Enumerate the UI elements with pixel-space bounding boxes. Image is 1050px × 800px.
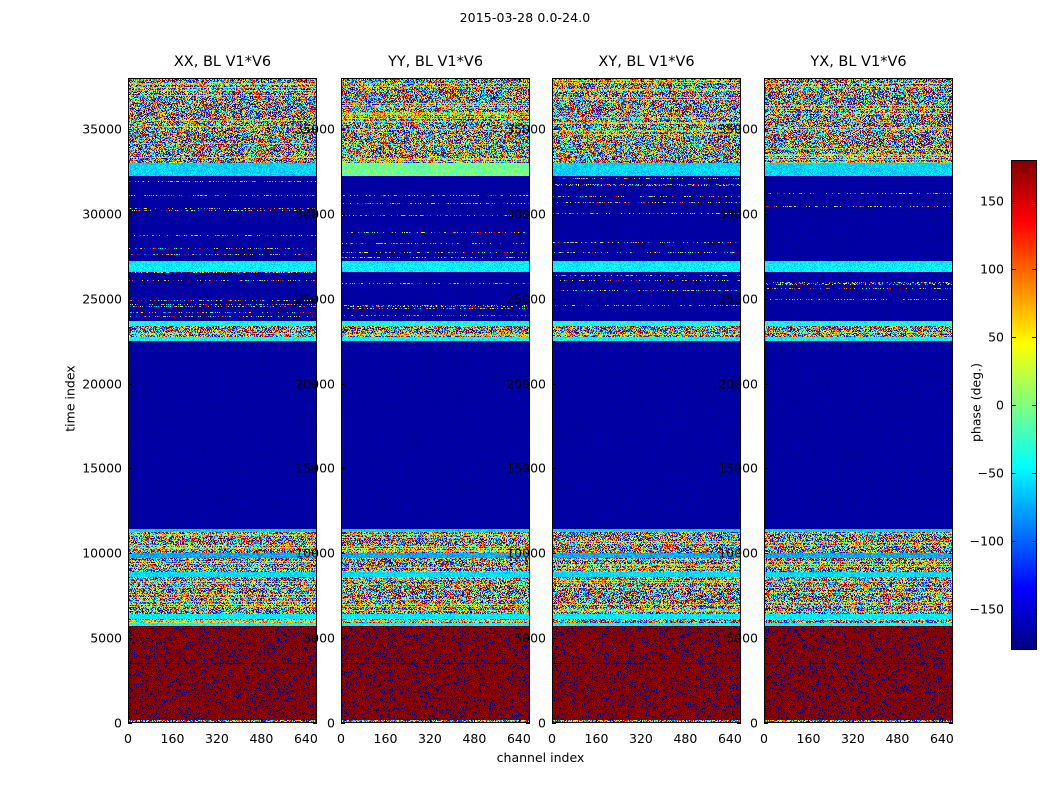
panel-yx[interactable]: YX, BL V1*V6 bbox=[764, 78, 953, 723]
y-tick-label: 0 bbox=[269, 716, 335, 731]
colorbar-tick-mark bbox=[1011, 269, 1016, 270]
y-tick-label: 25000 bbox=[480, 291, 546, 306]
y-tick-mark bbox=[341, 299, 345, 300]
x-tick-mark bbox=[730, 78, 731, 82]
y-tick-label: 35000 bbox=[56, 121, 122, 136]
heatmap-xy bbox=[552, 78, 741, 723]
y-tick-mark bbox=[552, 723, 556, 724]
x-tick-mark bbox=[685, 719, 686, 723]
colorbar-tick-mark bbox=[1011, 201, 1016, 202]
y-tick-mark bbox=[128, 638, 132, 639]
x-tick-mark bbox=[306, 78, 307, 82]
x-tick-mark bbox=[474, 719, 475, 723]
panel-title-yy: YY, BL V1*V6 bbox=[341, 54, 530, 70]
y-tick-mark bbox=[764, 214, 768, 215]
figure-suptitle: 2015-03-28 0.0-24.0 bbox=[0, 10, 1050, 25]
x-tick-mark bbox=[261, 78, 262, 82]
colorbar-tick-mark bbox=[1032, 405, 1037, 406]
panel-title-yx: YX, BL V1*V6 bbox=[764, 54, 953, 70]
y-tick-mark bbox=[341, 214, 345, 215]
y-tick-mark bbox=[552, 638, 556, 639]
y-tick-label: 30000 bbox=[269, 206, 335, 221]
y-tick-mark bbox=[341, 553, 345, 554]
y-tick-mark bbox=[949, 299, 953, 300]
y-tick-mark bbox=[949, 468, 953, 469]
x-tick-label: 640 bbox=[294, 731, 318, 746]
colorbar-tick-mark bbox=[1032, 609, 1037, 610]
colorbar-tick-label: −150 bbox=[949, 602, 1004, 617]
y-tick-mark bbox=[552, 299, 556, 300]
x-tick-label: 480 bbox=[885, 731, 909, 746]
y-tick-label: 15000 bbox=[269, 461, 335, 476]
y-tick-mark bbox=[949, 553, 953, 554]
y-tick-mark bbox=[128, 553, 132, 554]
y-tick-mark bbox=[341, 129, 345, 130]
x-tick-mark bbox=[764, 719, 765, 723]
y-tick-label: 30000 bbox=[56, 206, 122, 221]
colorbar-tick-mark bbox=[1011, 609, 1016, 610]
x-tick-mark bbox=[128, 78, 129, 82]
y-tick-label: 0 bbox=[56, 716, 122, 731]
x-tick-label: 640 bbox=[930, 731, 954, 746]
x-tick-label: 0 bbox=[337, 731, 345, 746]
y-tick-label: 10000 bbox=[269, 546, 335, 561]
y-tick-mark bbox=[341, 723, 345, 724]
x-tick-mark bbox=[217, 719, 218, 723]
y-tick-mark bbox=[128, 468, 132, 469]
x-tick-mark bbox=[685, 78, 686, 82]
x-tick-mark bbox=[596, 719, 597, 723]
x-tick-mark bbox=[430, 78, 431, 82]
colorbar-tick-mark bbox=[1011, 405, 1016, 406]
y-tick-mark bbox=[949, 723, 953, 724]
y-tick-mark bbox=[128, 299, 132, 300]
y-tick-mark bbox=[949, 129, 953, 130]
colorbar-tick-label: −100 bbox=[949, 534, 1004, 549]
y-tick-label: 20000 bbox=[480, 376, 546, 391]
y-tick-mark bbox=[128, 723, 132, 724]
x-tick-label: 480 bbox=[249, 731, 273, 746]
x-tick-label: 160 bbox=[374, 731, 398, 746]
x-tick-label: 640 bbox=[718, 731, 742, 746]
x-tick-mark bbox=[641, 78, 642, 82]
y-tick-mark bbox=[341, 468, 345, 469]
y-tick-mark bbox=[764, 129, 768, 130]
y-tick-mark bbox=[341, 638, 345, 639]
panel-yy[interactable]: YY, BL V1*V6 bbox=[341, 78, 530, 723]
panel-title-xx: XX, BL V1*V6 bbox=[128, 54, 317, 70]
y-tick-mark bbox=[764, 553, 768, 554]
colorbar-tick-mark bbox=[1032, 473, 1037, 474]
x-tick-label: 0 bbox=[548, 731, 556, 746]
x-tick-mark bbox=[552, 719, 553, 723]
x-tick-label: 160 bbox=[161, 731, 185, 746]
x-tick-mark bbox=[808, 719, 809, 723]
y-tick-label: 20000 bbox=[692, 376, 758, 391]
x-tick-mark bbox=[764, 78, 765, 82]
x-tick-mark bbox=[942, 78, 943, 82]
y-tick-label: 10000 bbox=[56, 546, 122, 561]
x-tick-mark bbox=[853, 719, 854, 723]
y-tick-label: 15000 bbox=[480, 461, 546, 476]
x-tick-label: 480 bbox=[462, 731, 486, 746]
y-tick-label: 0 bbox=[692, 716, 758, 731]
y-tick-mark bbox=[764, 638, 768, 639]
x-tick-mark bbox=[261, 719, 262, 723]
heatmap-xx bbox=[128, 78, 317, 723]
x-tick-mark bbox=[474, 78, 475, 82]
x-tick-label: 0 bbox=[760, 731, 768, 746]
y-tick-mark bbox=[949, 638, 953, 639]
x-tick-mark bbox=[128, 719, 129, 723]
x-tick-label: 160 bbox=[797, 731, 821, 746]
y-tick-mark bbox=[764, 723, 768, 724]
y-tick-label: 15000 bbox=[56, 461, 122, 476]
y-tick-label: 5000 bbox=[269, 631, 335, 646]
y-tick-label: 0 bbox=[480, 716, 546, 731]
x-tick-label: 480 bbox=[673, 731, 697, 746]
x-tick-mark bbox=[808, 78, 809, 82]
y-tick-mark bbox=[949, 384, 953, 385]
x-tick-mark bbox=[519, 78, 520, 82]
y-tick-mark bbox=[552, 468, 556, 469]
x-tick-label: 320 bbox=[841, 731, 865, 746]
panel-title-xy: XY, BL V1*V6 bbox=[552, 54, 741, 70]
x-tick-label: 320 bbox=[205, 731, 229, 746]
y-tick-mark bbox=[552, 384, 556, 385]
colorbar-tick-mark bbox=[1011, 473, 1016, 474]
colorbar-tick-label: 100 bbox=[949, 261, 1004, 276]
panel-xy[interactable]: XY, BL V1*V6 bbox=[552, 78, 741, 723]
y-tick-label: 15000 bbox=[692, 461, 758, 476]
y-tick-label: 35000 bbox=[692, 121, 758, 136]
x-tick-mark bbox=[172, 78, 173, 82]
y-tick-label: 30000 bbox=[480, 206, 546, 221]
x-tick-mark bbox=[942, 719, 943, 723]
x-tick-mark bbox=[897, 78, 898, 82]
colorbar-tick-mark bbox=[1011, 337, 1016, 338]
y-tick-label: 35000 bbox=[269, 121, 335, 136]
y-tick-mark bbox=[552, 214, 556, 215]
x-tick-mark bbox=[217, 78, 218, 82]
x-tick-mark bbox=[552, 78, 553, 82]
y-tick-mark bbox=[764, 299, 768, 300]
panel-xx[interactable]: XX, BL V1*V6 bbox=[128, 78, 317, 723]
colorbar-tick-mark bbox=[1011, 541, 1016, 542]
x-tick-label: 0 bbox=[124, 731, 132, 746]
y-tick-label: 25000 bbox=[269, 291, 335, 306]
heatmap-yy bbox=[341, 78, 530, 723]
x-tick-label: 160 bbox=[585, 731, 609, 746]
y-tick-mark bbox=[949, 214, 953, 215]
colorbar-tick-mark bbox=[1032, 269, 1037, 270]
y-tick-label: 5000 bbox=[692, 631, 758, 646]
y-tick-label: 5000 bbox=[56, 631, 122, 646]
colorbar-label: phase (deg.) bbox=[969, 333, 984, 473]
y-tick-mark bbox=[128, 129, 132, 130]
y-tick-label: 10000 bbox=[692, 546, 758, 561]
figure-canvas: 2015-03-28 0.0-24.0 time index channel i… bbox=[0, 0, 1050, 800]
y-tick-label: 30000 bbox=[692, 206, 758, 221]
x-tick-mark bbox=[430, 719, 431, 723]
y-tick-mark bbox=[764, 384, 768, 385]
y-tick-label: 10000 bbox=[480, 546, 546, 561]
y-tick-mark bbox=[552, 553, 556, 554]
x-tick-label: 640 bbox=[507, 731, 531, 746]
y-tick-label: 20000 bbox=[56, 376, 122, 391]
y-tick-label: 35000 bbox=[480, 121, 546, 136]
y-tick-label: 20000 bbox=[269, 376, 335, 391]
x-tick-mark bbox=[341, 719, 342, 723]
x-tick-mark bbox=[385, 78, 386, 82]
colorbar-tick-mark bbox=[1032, 541, 1037, 542]
heatmap-yx bbox=[764, 78, 953, 723]
y-tick-label: 25000 bbox=[692, 291, 758, 306]
x-tick-mark bbox=[853, 78, 854, 82]
x-tick-mark bbox=[596, 78, 597, 82]
colorbar-tick-mark bbox=[1032, 337, 1037, 338]
x-tick-mark bbox=[385, 719, 386, 723]
y-tick-mark bbox=[128, 214, 132, 215]
y-tick-mark bbox=[128, 384, 132, 385]
x-tick-mark bbox=[641, 719, 642, 723]
x-tick-label: 320 bbox=[418, 731, 442, 746]
x-tick-label: 320 bbox=[629, 731, 653, 746]
y-tick-mark bbox=[764, 468, 768, 469]
colorbar-tick-label: 150 bbox=[949, 193, 1004, 208]
x-tick-mark bbox=[897, 719, 898, 723]
x-tick-mark bbox=[341, 78, 342, 82]
y-tick-label: 5000 bbox=[480, 631, 546, 646]
colorbar-tick-mark bbox=[1032, 201, 1037, 202]
x-tick-mark bbox=[172, 719, 173, 723]
y-axis-label: time index bbox=[63, 338, 78, 458]
x-axis-label: channel index bbox=[128, 750, 953, 765]
y-tick-label: 25000 bbox=[56, 291, 122, 306]
y-tick-mark bbox=[552, 129, 556, 130]
y-tick-mark bbox=[341, 384, 345, 385]
